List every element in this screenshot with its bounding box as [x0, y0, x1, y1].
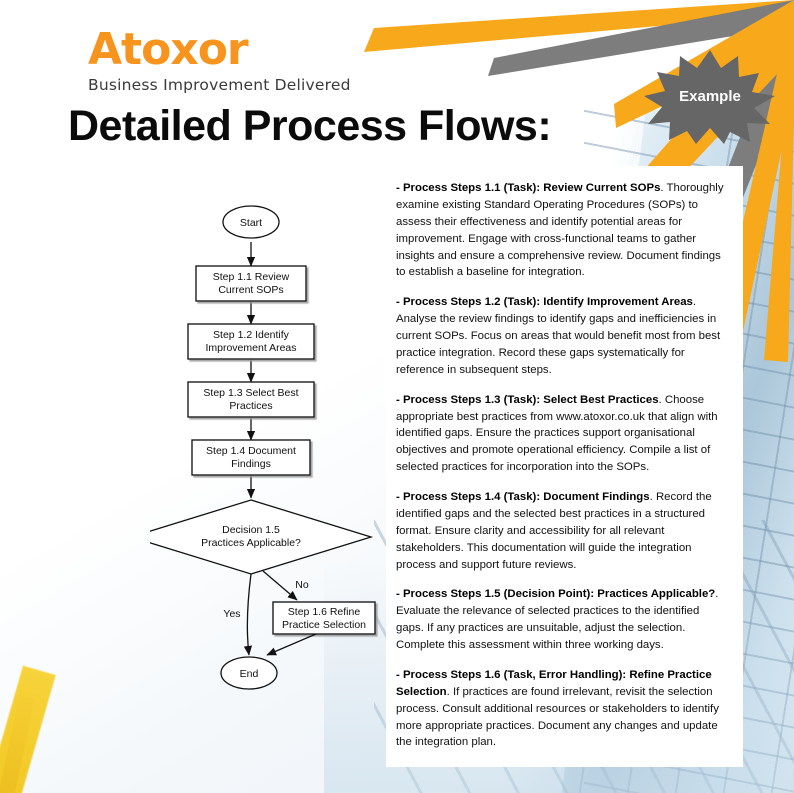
process-flowchart: Start Step 1.1 Review Current SOPs Step … [150, 200, 400, 700]
edge-no [263, 571, 297, 600]
slide-canvas: Atoxor Business Improvement Delivered De… [0, 0, 794, 793]
node-end-label: End [240, 668, 259, 680]
detail-paragraph: - Process Steps 1.3 (Task): Select Best … [396, 392, 729, 476]
brand-name: Atoxor [88, 28, 351, 72]
process-details-panel: - Process Steps 1.1 (Task): Review Curre… [386, 166, 743, 767]
node-step-1-6-line2: Practice Selection [282, 619, 366, 631]
node-step-1-1-line1: Step 1.1 Review [213, 271, 290, 283]
detail-paragraph: - Process Steps 1.1 (Task): Review Curre… [396, 180, 729, 281]
detail-heading: - Process Steps 1.2 (Task): Identify Imp… [396, 296, 693, 308]
detail-heading: - Process Steps 1.5 (Decision Point): Pr… [396, 588, 715, 600]
node-step-1-3-line1: Step 1.3 Select Best [203, 387, 298, 399]
edge-label-no: No [295, 579, 309, 591]
edge-label-yes: Yes [223, 608, 240, 620]
node-step-1-2-line1: Step 1.2 Identify [213, 329, 290, 341]
node-decision-1-5-line2: Practices Applicable? [201, 537, 301, 549]
detail-heading: - Process Steps 1.3 (Task): Select Best … [396, 394, 659, 406]
detail-body: . Thoroughly examine existing Standard O… [396, 182, 724, 278]
detail-heading: - Process Steps 1.1 (Task): Review Curre… [396, 182, 660, 194]
brand-logo: Atoxor Business Improvement Delivered [88, 28, 351, 94]
example-badge: Example [642, 48, 778, 144]
node-step-1-4-line2: Findings [231, 458, 271, 470]
node-step-1-2-line2: Improvement Areas [205, 342, 296, 354]
brand-tagline: Business Improvement Delivered [88, 76, 351, 94]
node-start-label: Start [240, 217, 262, 229]
node-step-1-4-line1: Step 1.4 Document [206, 445, 296, 457]
detail-paragraph: - Process Steps 1.6 (Task, Error Handlin… [396, 667, 729, 751]
node-step-1-1-line2: Current SOPs [218, 284, 283, 296]
node-step-1-6-line1: Step 1.6 Refine [288, 606, 361, 618]
edge-yes [247, 574, 251, 655]
edge-16-to-end [267, 634, 316, 655]
detail-paragraph: - Process Steps 1.2 (Task): Identify Imp… [396, 294, 729, 378]
detail-heading: - Process Steps 1.4 (Task): Document Fin… [396, 491, 650, 503]
page-title: Detailed Process Flows: [68, 102, 551, 151]
detail-paragraph: - Process Steps 1.5 (Decision Point): Pr… [396, 586, 729, 654]
flowchart-svg: Start Step 1.1 Review Current SOPs Step … [150, 200, 400, 700]
node-decision-1-5-line1: Decision 1.5 [222, 524, 280, 536]
detail-paragraph: - Process Steps 1.4 (Task): Document Fin… [396, 489, 729, 573]
starburst-icon [642, 48, 778, 144]
node-step-1-3-line2: Practices [229, 400, 272, 412]
